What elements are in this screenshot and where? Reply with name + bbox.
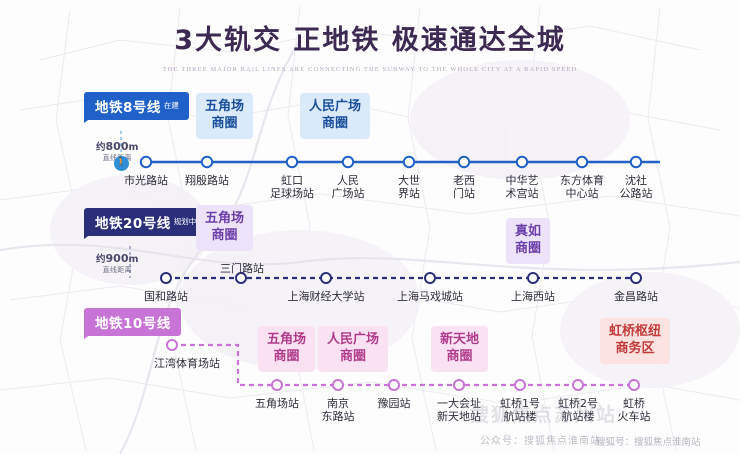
line20-distance: 约900m 直线距离 bbox=[96, 252, 138, 275]
business-circle-xintiandi-line10: 新天地 商圈 bbox=[431, 326, 488, 372]
line-badge-line8[interactable]: 地铁8号线 在建 bbox=[84, 92, 189, 120]
line8-distance-value: 约800m bbox=[96, 140, 138, 154]
line8-badge-status: 在建 bbox=[164, 102, 179, 110]
business-circle-zhenru-line20: 真如 商圈 bbox=[506, 218, 550, 264]
line10-badge-tail bbox=[84, 332, 94, 339]
station-label-wujiaochang: 五角场站 bbox=[249, 397, 305, 410]
station-label-shanghai-west: 上海西站 bbox=[493, 290, 573, 303]
business-circle-renminguangchang-line8: 人民广场 商圈 bbox=[300, 93, 370, 139]
line-badge-line20[interactable]: 地铁20号线 规划中 bbox=[84, 208, 206, 236]
station-label-jiangwan-stadium: 江湾体育场站 bbox=[133, 357, 241, 370]
station-label-oriental-sports-center: 东方体育中心站 bbox=[550, 174, 614, 201]
station-label-hongkou-stadium: 虹口足球场站 bbox=[266, 174, 318, 201]
station-label-nanjing-east-road: 南京东路站 bbox=[314, 397, 362, 424]
station-label-dashijie: 大世界站 bbox=[385, 174, 433, 201]
watermark-sohu-account: 搜狐号：搜狐焦点淮南站 bbox=[596, 434, 701, 448]
bc-line1: 人民广场 bbox=[327, 332, 379, 349]
bc-line2: 商圈 bbox=[205, 116, 244, 133]
station-label-xiangyinlu: 翔殷路站 bbox=[171, 174, 243, 187]
line10-badge-label: 地铁10号线 bbox=[95, 312, 171, 332]
station-label-laoximen: 老西门站 bbox=[440, 174, 488, 201]
line20-distance-note: 直线距离 bbox=[96, 266, 138, 275]
station-label-zhonghuayishugong: 中华艺术宫站 bbox=[494, 174, 550, 201]
line8-badge-tail bbox=[84, 116, 94, 123]
station-label-renmin-square: 人民广场站 bbox=[322, 174, 374, 201]
bc-line1: 真如 bbox=[515, 224, 541, 241]
station-label-guohelu: 国和路站 bbox=[130, 290, 202, 303]
station-label-shanghai-circus-world: 上海马戏城站 bbox=[382, 290, 478, 303]
line20-badge-tail bbox=[84, 232, 94, 239]
bc-line1: 新天地 bbox=[440, 332, 479, 349]
bc-line1: 五角场 bbox=[205, 99, 244, 116]
bc-line2: 商圈 bbox=[309, 116, 361, 133]
line20-badge-status: 规划中 bbox=[174, 218, 197, 226]
line-badge-line10[interactable]: 地铁10号线 bbox=[84, 308, 181, 336]
bc-line1: 虹桥枢纽 bbox=[609, 324, 661, 341]
business-circle-wujiaochang-line10: 五角场 商圈 bbox=[258, 326, 315, 372]
business-circle-wujiaochang-line20: 五角场 商圈 bbox=[196, 205, 253, 251]
bc-line1: 人民广场 bbox=[309, 99, 361, 116]
business-circle-wujiaochang-line8: 五角场 商圈 bbox=[196, 93, 253, 139]
watermark-main: 搜狐焦点苏州站 bbox=[470, 400, 617, 427]
line20-badge-label: 地铁20号线 bbox=[95, 212, 171, 232]
line8-badge-label: 地铁8号线 bbox=[95, 96, 161, 116]
bc-line2: 商圈 bbox=[205, 228, 244, 245]
bc-line1: 五角场 bbox=[267, 332, 306, 349]
bc-line2: 商圈 bbox=[515, 241, 541, 258]
business-circle-renminguangchang-line10: 人民广场 商圈 bbox=[318, 326, 388, 372]
station-label-shufe: 上海财经大学站 bbox=[266, 290, 386, 303]
bc-line1: 五角场 bbox=[205, 211, 244, 228]
station-label-sanmenlu: 三门路站 bbox=[214, 262, 270, 275]
walk-icon-line8: 🚶 bbox=[114, 156, 129, 171]
line20-distance-value: 约900m bbox=[96, 252, 138, 266]
business-circle-hongqiao-line10: 虹桥枢纽 商务区 bbox=[600, 318, 670, 364]
station-label-shenshe-gonglu: 沈社公路站 bbox=[608, 174, 664, 201]
bc-line2: 商圈 bbox=[440, 349, 479, 366]
bc-line2: 商圈 bbox=[327, 349, 379, 366]
watermark-public-account: 公众号：搜狐焦点淮南站 bbox=[480, 432, 601, 447]
line10-track bbox=[172, 345, 634, 385]
bc-line2: 商务区 bbox=[609, 341, 661, 358]
station-label-yuyuan: 豫园站 bbox=[366, 397, 422, 410]
station-label-jinchanglu: 金昌路站 bbox=[600, 290, 672, 303]
bc-line2: 商圈 bbox=[267, 349, 306, 366]
